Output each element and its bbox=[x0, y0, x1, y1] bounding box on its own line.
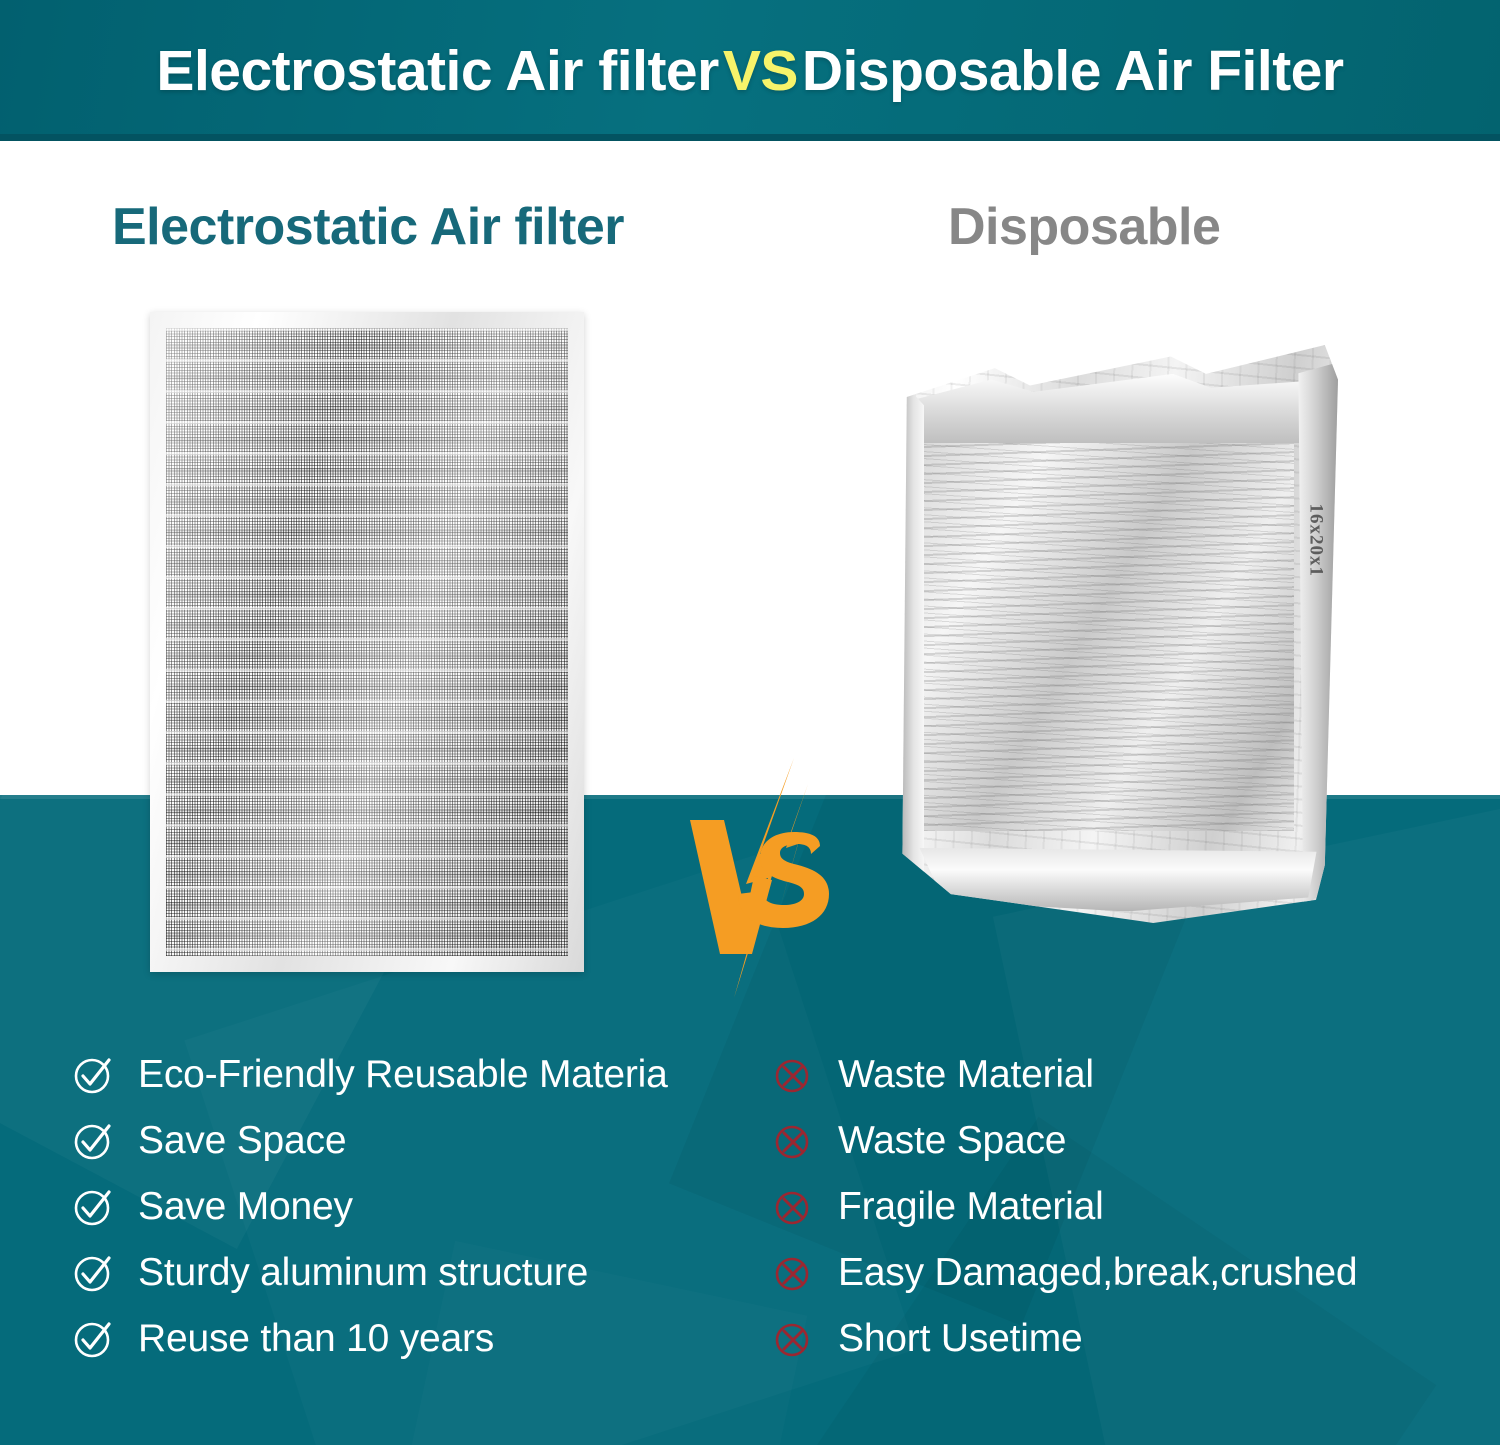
left-column-heading: Electrostatic Air filter bbox=[112, 197, 624, 257]
list-item-label: Reuse than 10 years bbox=[138, 1317, 494, 1361]
x-circle-icon bbox=[772, 1185, 816, 1229]
disposable-filter-media bbox=[924, 437, 1294, 830]
list-item: Sturdy aluminum structure bbox=[72, 1240, 772, 1306]
list-item-label: Waste Material bbox=[838, 1053, 1094, 1097]
list-item: Easy Damaged,break,crushed bbox=[772, 1240, 1472, 1306]
list-item: Reuse than 10 years bbox=[72, 1306, 772, 1372]
disposable-filter-bottom-frame bbox=[911, 848, 1325, 912]
x-circle-icon bbox=[772, 1317, 816, 1361]
disposable-filter-size-label: 16x20x1 bbox=[1304, 504, 1326, 578]
list-item: Save Space bbox=[72, 1108, 772, 1174]
page-title-vs: VS bbox=[719, 38, 802, 104]
page-title: Electrostatic Air filter VS Disposable A… bbox=[0, 0, 1500, 141]
cons-list: Waste Material Waste Space Fragile Mater… bbox=[772, 1042, 1472, 1372]
disposable-filter-body bbox=[898, 345, 1338, 923]
x-circle-icon bbox=[772, 1119, 816, 1163]
electrostatic-filter-mesh-area bbox=[166, 328, 568, 956]
comparison-infographic: Electrostatic Air filter VS Disposable A… bbox=[0, 0, 1500, 1445]
check-circle-icon bbox=[72, 1185, 116, 1229]
list-item-label: Short Usetime bbox=[838, 1317, 1082, 1361]
x-circle-icon bbox=[772, 1053, 816, 1097]
list-item-label: Waste Space bbox=[838, 1119, 1066, 1163]
list-item-label: Sturdy aluminum structure bbox=[138, 1251, 588, 1295]
mesh-sheen bbox=[166, 328, 568, 956]
x-circle-icon bbox=[772, 1251, 816, 1295]
page-title-part1: Electrostatic Air filter bbox=[156, 38, 718, 104]
right-column-heading: Disposable bbox=[948, 197, 1220, 257]
disposable-filter-image: 16x20x1 bbox=[898, 345, 1338, 923]
check-circle-icon bbox=[72, 1317, 116, 1361]
list-item: Short Usetime bbox=[772, 1306, 1472, 1372]
list-item-label: Eco-Friendly Reusable Materia bbox=[138, 1053, 668, 1097]
list-item: Eco-Friendly Reusable Materia bbox=[72, 1042, 772, 1108]
list-item: Waste Space bbox=[772, 1108, 1472, 1174]
disposable-filter-left-frame bbox=[898, 385, 924, 894]
vs-badge bbox=[676, 758, 846, 998]
electrostatic-filter-image bbox=[150, 312, 584, 972]
header-band: Electrostatic Air filter VS Disposable A… bbox=[0, 0, 1500, 141]
disposable-filter-top-frame bbox=[907, 374, 1329, 443]
check-circle-icon bbox=[72, 1119, 116, 1163]
list-item: Save Money bbox=[72, 1174, 772, 1240]
list-item-label: Fragile Material bbox=[838, 1185, 1104, 1229]
list-item: Waste Material bbox=[772, 1042, 1472, 1108]
list-item-label: Easy Damaged,break,crushed bbox=[838, 1251, 1357, 1295]
check-circle-icon bbox=[72, 1251, 116, 1295]
disposable-filter-right-frame bbox=[1298, 362, 1338, 905]
page-title-part2: Disposable Air Filter bbox=[802, 38, 1344, 104]
check-circle-icon bbox=[72, 1053, 116, 1097]
list-item-label: Save Money bbox=[138, 1185, 353, 1229]
pros-list: Eco-Friendly Reusable Materia Save Space… bbox=[72, 1042, 772, 1372]
list-item: Fragile Material bbox=[772, 1174, 1472, 1240]
list-item-label: Save Space bbox=[138, 1119, 346, 1163]
